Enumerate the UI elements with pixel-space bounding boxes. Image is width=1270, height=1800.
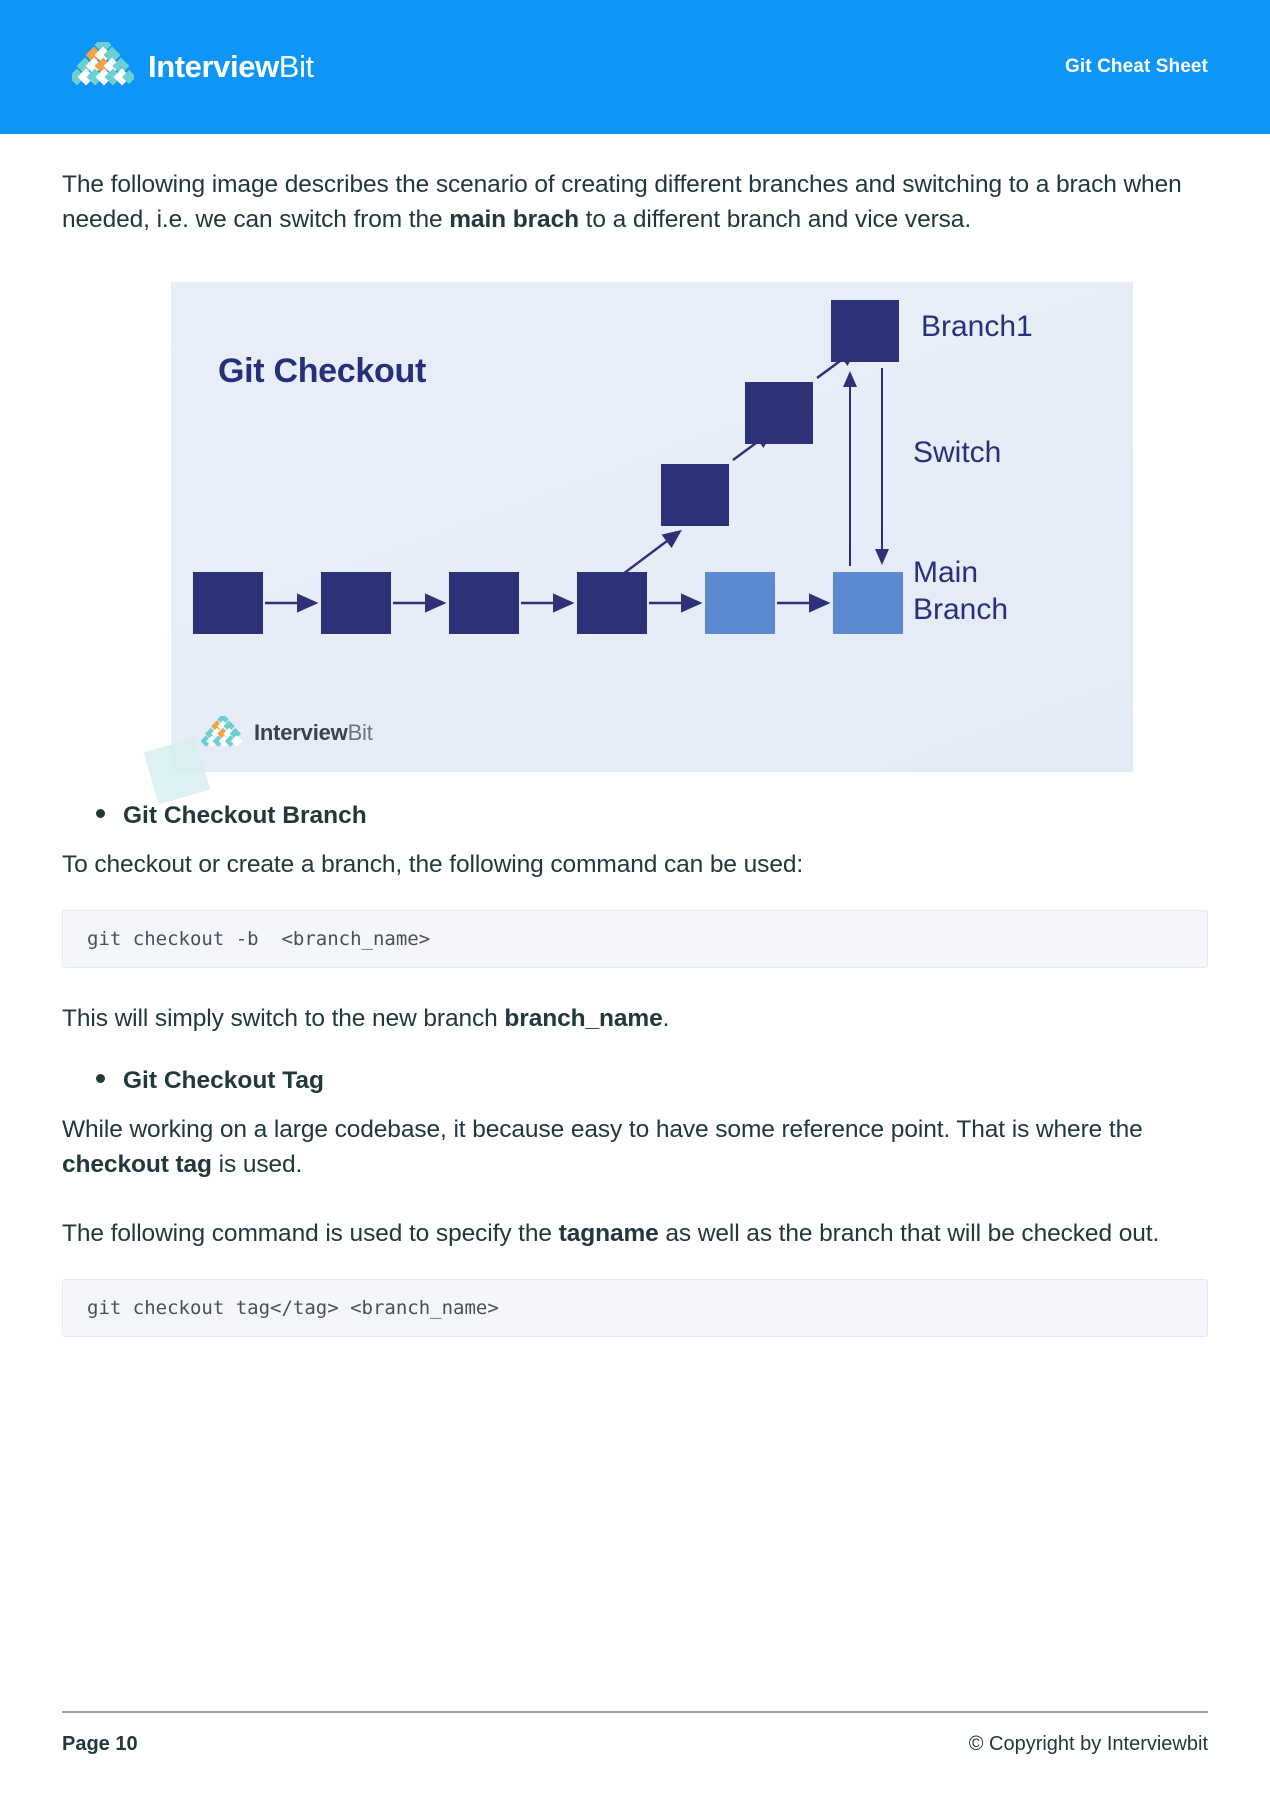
- interviewbit-diamond-logo-icon: [201, 716, 245, 750]
- commit-node-main-1: [193, 572, 263, 634]
- tag2-part-1: The following command is used to specify…: [62, 1220, 559, 1247]
- code-block-checkout-tag[interactable]: git checkout tag</tag> <branch_name>: [62, 1279, 1208, 1337]
- tag2-bold: tagname: [559, 1220, 659, 1247]
- figure-watermark-text: InterviewBit: [254, 720, 373, 746]
- figure-label-branch1: Branch1: [921, 308, 1033, 346]
- brand-wordmark-bold: Interview: [148, 49, 279, 84]
- after-code1-part-2: .: [663, 1005, 670, 1032]
- git-checkout-diagram: Git Checkout: [171, 282, 1133, 772]
- para-checkout-branch: To checkout or create a branch, the foll…: [62, 848, 1208, 883]
- figure-label-switch: Switch: [913, 434, 1001, 472]
- interviewbit-diamond-logo-icon: [72, 42, 134, 92]
- code-text-1: git checkout -b <branch_name>: [87, 928, 430, 950]
- intro-paragraph: The following image describes the scenar…: [62, 168, 1208, 238]
- footer-copyright: © Copyright by Interviewbit: [969, 1733, 1208, 1756]
- commit-node-branch-2: [745, 382, 813, 444]
- commit-node-branch-1: [661, 464, 729, 526]
- commit-node-main-3: [449, 572, 519, 634]
- bullet-git-checkout-tag: Git Checkout Tag: [62, 1067, 1208, 1095]
- code-block-checkout-branch[interactable]: git checkout -b <branch_name>: [62, 910, 1208, 968]
- tag2-part-2: as well as the branch that will be check…: [659, 1220, 1159, 1247]
- para-after-code-1: This will simply switch to the new branc…: [62, 1002, 1208, 1037]
- bullet-label-1: Git Checkout Tag: [123, 1067, 324, 1095]
- footer-divider: [62, 1711, 1208, 1713]
- bullet-dot-icon: [96, 809, 105, 818]
- commit-node-main-5: [705, 572, 775, 634]
- after-code1-bold: branch_name: [504, 1005, 662, 1032]
- intro-part-2: to a different branch and vice versa.: [579, 206, 971, 233]
- brand-wordmark-light: Bit: [279, 49, 314, 84]
- footer-row: Page 10 © Copyright by Interviewbit: [62, 1733, 1208, 1756]
- figure-watermark-light: Bit: [348, 720, 373, 745]
- code-text-2: git checkout tag</tag> <branch_name>: [87, 1297, 499, 1319]
- figure-container: Git Checkout: [94, 282, 1240, 772]
- page-root: InterviewBit Git Cheat Sheet The followi…: [0, 0, 1270, 1800]
- figure-arrows: [171, 282, 1133, 772]
- commit-node-branch-3: [831, 300, 899, 362]
- intro-bold-main-brach: main brach: [449, 206, 579, 233]
- commit-node-main-2: [321, 572, 391, 634]
- para-tag-2: The following command is used to specify…: [62, 1217, 1208, 1252]
- after-code1-part-1: This will simply switch to the new branc…: [62, 1005, 504, 1032]
- bullet-label-0: Git Checkout Branch: [123, 802, 367, 830]
- bullet-git-checkout-branch: Git Checkout Branch: [62, 802, 1208, 830]
- tag1-part-1: While working on a large codebase, it be…: [62, 1116, 1143, 1143]
- para-tag-1: While working on a large codebase, it be…: [62, 1113, 1208, 1183]
- tag1-bold: checkout tag: [62, 1151, 212, 1178]
- figure-watermark: InterviewBit: [201, 716, 373, 750]
- figure-watermark-bold: Interview: [254, 720, 348, 745]
- brand-logo: InterviewBit: [72, 42, 314, 92]
- figure-label-main-branch: Main Branch: [913, 554, 1008, 629]
- commit-node-main-4: [577, 572, 647, 634]
- page-header: InterviewBit Git Cheat Sheet: [0, 0, 1270, 134]
- footer-page-label: Page 10: [62, 1733, 138, 1756]
- page-footer: Page 10 © Copyright by Interviewbit: [62, 1711, 1208, 1756]
- tag1-part-2: is used.: [212, 1151, 302, 1178]
- commit-node-main-6: [833, 572, 903, 634]
- header-title: Git Cheat Sheet: [1065, 56, 1208, 78]
- bullet-dot-icon: [96, 1074, 105, 1083]
- page-content: The following image describes the scenar…: [0, 134, 1270, 1337]
- brand-wordmark: InterviewBit: [148, 49, 314, 85]
